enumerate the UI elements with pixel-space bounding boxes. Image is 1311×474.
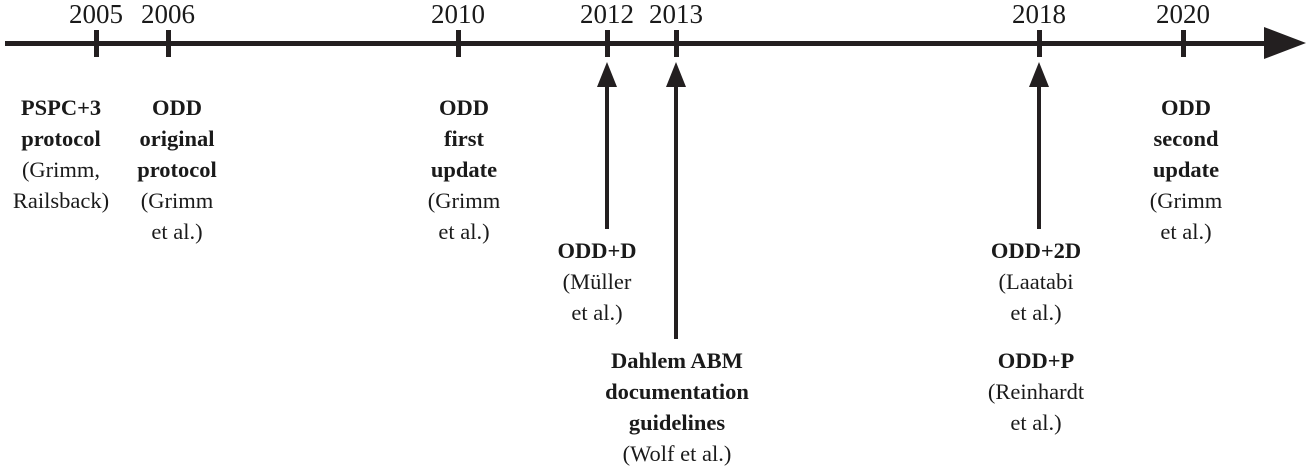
entry-citation-line: (Grimm <box>428 185 501 216</box>
timeline-tick-2012 <box>605 30 610 57</box>
entry-citation-line: (Wolf et al.) <box>605 438 749 469</box>
entry-citation-line: Railsback) <box>13 185 109 216</box>
timeline-tick-2010 <box>456 30 461 57</box>
timeline-entry-odd-plus-d: ODD+D(Mülleret al.) <box>557 235 636 328</box>
connector-arrow-shaft-odd-plus-2d <box>1037 82 1041 229</box>
entry-title-line: ODD <box>137 92 217 123</box>
entry-citation-line: et al.) <box>137 216 217 247</box>
entry-citation-line: et al.) <box>988 407 1084 438</box>
entry-citation-line: (Grimm <box>1150 185 1223 216</box>
entry-title-line: original <box>137 123 217 154</box>
connector-arrow-head-icon-dahlem-abm <box>666 62 686 87</box>
timeline-figure: 2005200620102012201320182020 PSPC+3proto… <box>0 0 1311 474</box>
entry-title-line: protocol <box>137 154 217 185</box>
entry-citation-line: (Laatabi <box>991 266 1081 297</box>
entry-title-line: ODD <box>428 92 501 123</box>
timeline-axis-line <box>5 41 1272 46</box>
entry-citation-line: (Reinhardt <box>988 376 1084 407</box>
timeline-tick-2013 <box>674 30 679 57</box>
entry-citation-line: et al.) <box>991 297 1081 328</box>
timeline-entry-odd-plus-p: ODD+P(Reinhardtet al.) <box>988 345 1084 438</box>
year-label-2020: 2020 <box>1156 0 1210 30</box>
entry-citation-line: (Grimm, <box>13 154 109 185</box>
entry-title-line: protocol <box>13 123 109 154</box>
timeline-entry-odd-original: ODDoriginalprotocol(Grimmet al.) <box>137 92 217 247</box>
timeline-entry-odd-plus-2d: ODD+2D(Laatabiet al.) <box>991 235 1081 328</box>
timeline-entry-odd-first-update: ODDfirstupdate(Grimmet al.) <box>428 92 501 247</box>
timeline-tick-2020 <box>1181 30 1186 57</box>
timeline-tick-2018 <box>1037 30 1042 57</box>
entry-citation-line: et al.) <box>1150 216 1223 247</box>
entry-citation-line: et al.) <box>428 216 501 247</box>
entry-title-line: documentation <box>605 376 749 407</box>
year-label-2012: 2012 <box>580 0 634 30</box>
timeline-entry-odd-second-update: ODDsecondupdate(Grimmet al.) <box>1150 92 1223 247</box>
timeline-tick-2005 <box>94 30 99 57</box>
entry-title-line: PSPC+3 <box>13 92 109 123</box>
entry-title-line: first <box>428 123 501 154</box>
timeline-axis-arrowhead-icon <box>1264 27 1306 59</box>
connector-arrow-shaft-dahlem-abm <box>674 82 678 339</box>
year-label-2013: 2013 <box>649 0 703 30</box>
entry-citation-line: (Müller <box>557 266 636 297</box>
entry-title-line: ODD+2D <box>991 235 1081 266</box>
entry-title-line: guidelines <box>605 407 749 438</box>
timeline-tick-2006 <box>166 30 171 57</box>
timeline-entry-pspc3: PSPC+3protocol(Grimm,Railsback) <box>13 92 109 216</box>
entry-title-line: update <box>428 154 501 185</box>
entry-title-line: ODD <box>1150 92 1223 123</box>
year-label-2006: 2006 <box>141 0 195 30</box>
connector-arrow-head-icon-odd-plus-2d <box>1029 62 1049 87</box>
entry-title-line: second <box>1150 123 1223 154</box>
entry-title-line: ODD+P <box>988 345 1084 376</box>
entry-citation-line: et al.) <box>557 297 636 328</box>
timeline-entry-dahlem-abm: Dahlem ABMdocumentationguidelines(Wolf e… <box>605 345 749 469</box>
entry-title-line: Dahlem ABM <box>605 345 749 376</box>
year-label-2005: 2005 <box>69 0 123 30</box>
entry-title-line: ODD+D <box>557 235 636 266</box>
entry-title-line: update <box>1150 154 1223 185</box>
year-label-2018: 2018 <box>1012 0 1066 30</box>
entry-citation-line: (Grimm <box>137 185 217 216</box>
connector-arrow-shaft-odd-plus-d <box>605 82 609 229</box>
year-label-2010: 2010 <box>431 0 485 30</box>
connector-arrow-head-icon-odd-plus-d <box>597 62 617 87</box>
